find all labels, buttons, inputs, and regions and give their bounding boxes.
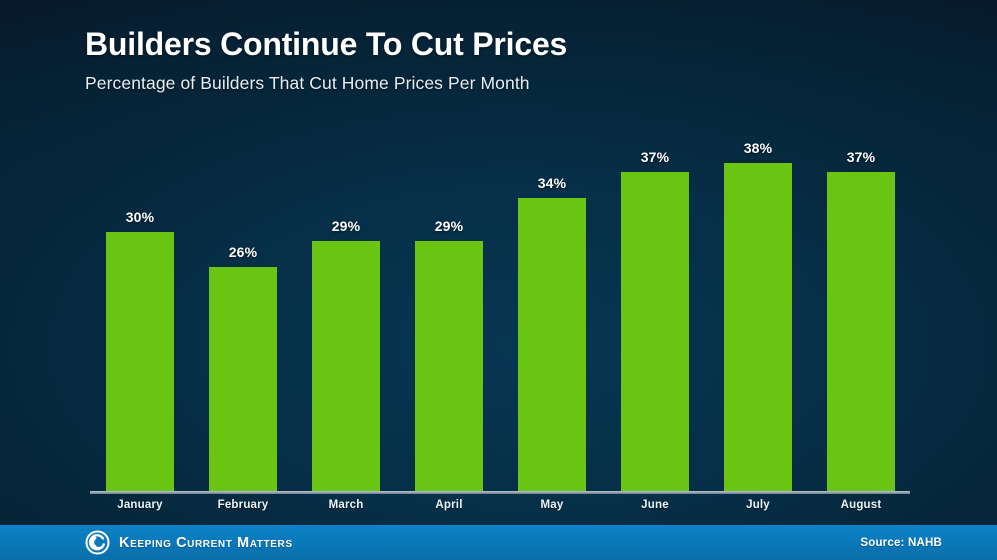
bar-chart: 30%26%29%29%34%37%38%37% JanuaryFebruary…: [0, 0, 997, 525]
bar-group: 29%: [415, 120, 483, 492]
x-axis-tick-march: March: [295, 499, 397, 511]
bar[interactable]: [209, 267, 277, 492]
bar[interactable]: [312, 241, 380, 492]
plot-area: 30%26%29%29%34%37%38%37%: [90, 120, 910, 492]
bar-value-label: 29%: [312, 218, 380, 234]
slide-canvas: Builders Continue To Cut Prices Percenta…: [0, 0, 997, 560]
bar-value-label: 37%: [621, 149, 689, 165]
bar[interactable]: [621, 172, 689, 492]
bar-group: 34%: [518, 120, 586, 492]
x-axis-tick-january: January: [89, 499, 191, 511]
brand-block: Keeping Current Matters: [85, 525, 293, 560]
bar-value-label: 34%: [518, 175, 586, 191]
bar[interactable]: [518, 198, 586, 492]
x-axis-tick-july: July: [707, 499, 809, 511]
footer-bar: Keeping Current Matters Source: NAHB: [0, 525, 997, 560]
x-axis-tick-may: May: [501, 499, 603, 511]
source-attribution: Source: NAHB: [860, 525, 942, 560]
bar-group: 37%: [827, 120, 895, 492]
x-axis-tick-june: June: [604, 499, 706, 511]
bar[interactable]: [724, 163, 792, 492]
x-axis-line: [90, 491, 910, 494]
bar-value-label: 26%: [209, 244, 277, 260]
bar-value-label: 29%: [415, 218, 483, 234]
brand-name: Keeping Current Matters: [119, 535, 293, 551]
bar-group: 37%: [621, 120, 689, 492]
x-axis-tick-april: April: [398, 499, 500, 511]
x-axis-tick-february: February: [192, 499, 294, 511]
bar[interactable]: [415, 241, 483, 492]
bar-group: 30%: [106, 120, 174, 492]
x-axis-tick-august: August: [810, 499, 912, 511]
bar-group: 29%: [312, 120, 380, 492]
bar-value-label: 30%: [106, 209, 174, 225]
bar[interactable]: [106, 232, 174, 492]
spiral-circle-logo-icon: [85, 530, 110, 555]
bar-group: 38%: [724, 120, 792, 492]
bar-value-label: 37%: [827, 149, 895, 165]
bar[interactable]: [827, 172, 895, 492]
bar-group: 26%: [209, 120, 277, 492]
x-axis-tick-labels: JanuaryFebruaryMarchAprilMayJuneJulyAugu…: [90, 499, 910, 521]
bar-value-label: 38%: [724, 140, 792, 156]
